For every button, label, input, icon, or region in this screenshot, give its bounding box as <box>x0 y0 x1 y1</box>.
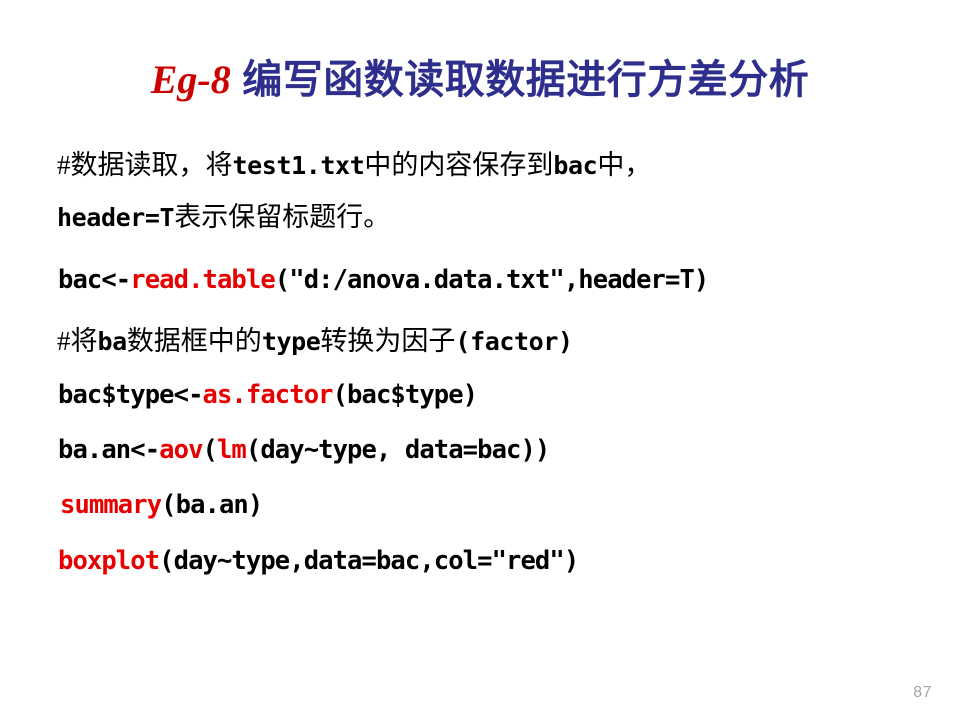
line-segment: 转换为因子 <box>320 326 455 356</box>
line-segment: (bac$type) <box>333 380 478 410</box>
content-line: bac<-read.table("d:/anova.data.txt",head… <box>58 268 708 294</box>
line-segment: 中的内容保存到 <box>364 150 553 180</box>
content-line: bac$type<-as.factor(bac$type) <box>58 383 477 409</box>
title-example-label: Eg-8 <box>151 57 231 102</box>
line-segment: (factor) <box>455 327 572 356</box>
line-segment: (ba.an) <box>161 490 262 520</box>
line-segment: type <box>262 327 321 356</box>
line-segment: test1.txt <box>233 151 365 180</box>
line-segment: #将 <box>57 326 98 356</box>
line-segment: summary <box>60 490 161 520</box>
line-segment: 表示保留标题行。 <box>174 202 390 232</box>
line-segment: (day~type,data=bac,col="red") <box>159 546 578 576</box>
line-segment: #数据读取，将 <box>57 150 233 180</box>
line-segment: read.table <box>130 265 275 295</box>
line-segment: 中， <box>597 150 651 180</box>
line-segment: ("d:/anova.data.txt",header=T) <box>275 265 709 295</box>
line-segment: lm <box>217 435 246 465</box>
line-segment: aov <box>159 435 202 465</box>
line-segment: (day~type, data=bac)) <box>246 435 550 465</box>
line-segment: ba <box>98 327 127 356</box>
line-segment: bac <box>553 151 597 180</box>
line-segment: bac<- <box>58 265 130 295</box>
line-segment: boxplot <box>58 546 159 576</box>
page-number: 87 <box>913 684 932 702</box>
content-line: #数据读取，将test1.txt中的内容保存到bac中， <box>57 152 651 179</box>
line-segment: header=T <box>57 203 174 232</box>
content-line: header=T表示保留标题行。 <box>57 204 390 231</box>
line-segment: bac$type<- <box>58 380 203 410</box>
line-segment: 数据框中的 <box>127 326 262 356</box>
line-segment: ba.an<- <box>58 435 159 465</box>
page-title: Eg-8 编写函数读取数据进行方差分析 <box>0 58 960 103</box>
content-line: summary(ba.an) <box>60 493 262 519</box>
line-segment: as.factor <box>203 380 333 410</box>
slide-canvas: Eg-8 编写函数读取数据进行方差分析 #数据读取，将test1.txt中的内容… <box>0 0 960 720</box>
content-line: boxplot(day~type,data=bac,col="red") <box>58 549 578 575</box>
content-line: ba.an<-aov(lm(day~type, data=bac)) <box>58 438 549 464</box>
line-segment: ( <box>203 435 217 465</box>
content-line: #将ba数据框中的type转换为因子(factor) <box>57 328 573 355</box>
title-heading-text: 编写函数读取数据进行方差分析 <box>231 58 810 102</box>
